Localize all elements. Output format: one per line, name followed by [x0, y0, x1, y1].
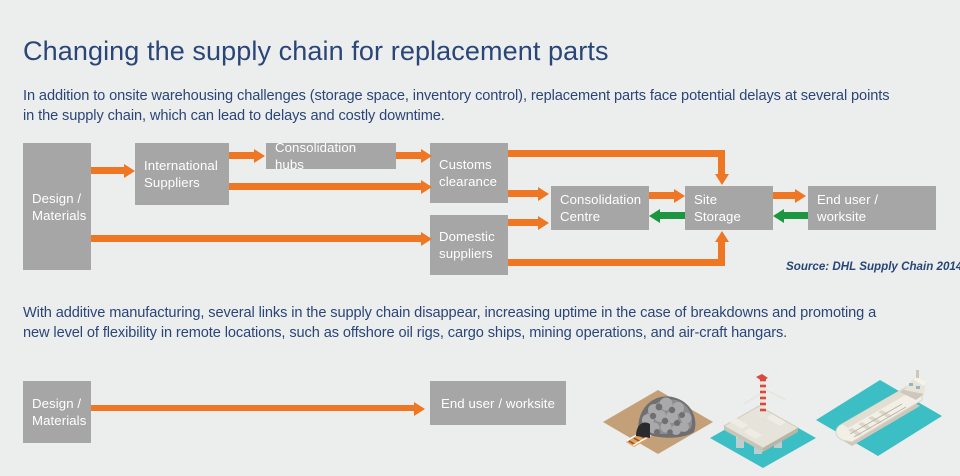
- node-end-user-worksite[interactable]: End user / worksite: [808, 186, 936, 230]
- arrow-customs-to-consolidation: [508, 190, 540, 197]
- arrow-design-to-end-user-additive: [91, 405, 418, 411]
- node-label-line1: International: [144, 157, 218, 174]
- node-label-line1: Consolidation hubs: [275, 139, 387, 173]
- arrowhead-hubs-to-customs: [421, 149, 432, 163]
- offshore-oil-rig-illustration: [706, 368, 821, 472]
- second-paragraph: With additive manufacturing, several lin…: [23, 303, 893, 343]
- arrow-customs-to-site-horizontal: [508, 150, 725, 157]
- node-label-line1: Site Storage: [694, 191, 764, 225]
- arrow-international-to-hubs: [229, 152, 256, 159]
- node-consolidation-centre[interactable]: Consolidation Centre: [551, 186, 649, 230]
- node-label-line1: Domestic: [439, 228, 495, 245]
- arrowhead-design-to-domestic: [421, 232, 432, 246]
- arrow-domestic-to-consolidation: [508, 219, 540, 226]
- intro-paragraph: In addition to onsite warehousing challe…: [23, 86, 893, 126]
- arrowhead-customs-to-consolidation: [538, 187, 549, 201]
- arrowhead-international-to-customs: [421, 180, 432, 194]
- node-international-suppliers[interactable]: International Suppliers: [135, 143, 229, 205]
- page-title: Changing the supply chain for replacemen…: [23, 36, 609, 67]
- arrowhead-design-to-end-user-additive: [414, 402, 425, 416]
- node-label-line1: Consolidation: [560, 191, 641, 208]
- node-label-line1: Design /: [32, 190, 86, 207]
- node-label-line2: suppliers: [439, 245, 495, 262]
- arrowhead-domestic-to-site: [715, 231, 729, 242]
- arrow-site-to-consolidation-return: [660, 212, 685, 219]
- arrowhead-international-to-hubs: [254, 149, 265, 163]
- node-label-line1: Customs: [439, 156, 497, 173]
- arrowhead-customs-to-site: [715, 174, 729, 185]
- arrowhead-site-to-consolidation-return: [649, 209, 660, 223]
- node-label-line1: Design /: [32, 395, 86, 412]
- arrow-domestic-to-site-horizontal: [508, 259, 725, 266]
- arrowhead-domestic-to-consolidation: [538, 216, 549, 230]
- arrow-international-to-customs: [229, 183, 425, 190]
- node-label-line1: End user / worksite: [441, 395, 555, 412]
- node-label-line2: Materials: [32, 412, 86, 429]
- arrow-site-to-end-user: [773, 192, 797, 199]
- arrowhead-consolidation-to-site: [674, 189, 685, 203]
- arrowhead-site-to-end-user: [795, 189, 806, 203]
- node-consolidation-hubs[interactable]: Consolidation hubs: [266, 143, 396, 169]
- node-design-materials[interactable]: Design / Materials: [23, 143, 91, 270]
- arrowhead-design-to-international: [124, 164, 135, 178]
- node-label-line2: Materials: [32, 207, 86, 224]
- node-label-line2: Centre: [560, 208, 641, 225]
- node-domestic-suppliers[interactable]: Domestic suppliers: [430, 215, 508, 275]
- node-site-storage[interactable]: Site Storage: [685, 186, 773, 230]
- arrow-consolidation-to-site: [649, 192, 677, 199]
- mining-operation-illustration: [598, 370, 718, 470]
- node-customs-clearance[interactable]: Customs clearance: [430, 143, 508, 203]
- arrow-end-user-to-site-return: [784, 212, 808, 219]
- node-end-user-worksite-additive[interactable]: End user / worksite: [430, 381, 566, 425]
- cargo-ship-illustration: [812, 366, 947, 472]
- arrow-design-to-international: [91, 167, 126, 174]
- arrow-design-to-domestic: [91, 235, 425, 242]
- node-label-line2: Suppliers: [144, 174, 218, 191]
- source-note: Source: DHL Supply Chain 2014: [786, 260, 960, 273]
- arrow-domestic-to-site-vertical: [718, 241, 725, 266]
- node-label-line1: End user / worksite: [817, 191, 927, 225]
- arrow-customs-to-site-vertical: [718, 150, 725, 175]
- arrow-hubs-to-customs: [396, 152, 424, 159]
- node-label-line2: clearance: [439, 173, 497, 190]
- arrowhead-end-user-to-site-return: [773, 209, 784, 223]
- node-design-materials-additive[interactable]: Design / Materials: [23, 381, 91, 443]
